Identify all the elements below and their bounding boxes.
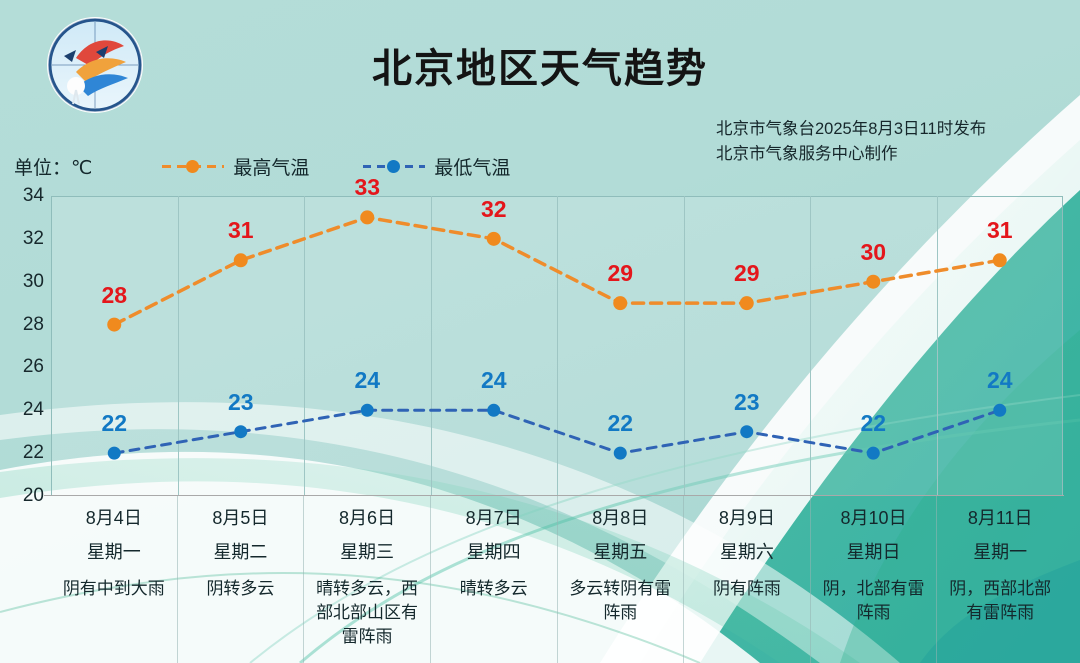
day-weekday: 星期一 xyxy=(87,539,141,565)
data-point-marker xyxy=(108,447,121,460)
data-point-marker xyxy=(234,253,248,267)
day-weather-description: 晴转多云 xyxy=(435,577,553,601)
day-weekday: 星期二 xyxy=(213,539,267,565)
day-weekday: 星期一 xyxy=(973,539,1027,565)
low-temp-value: 22 xyxy=(860,410,886,437)
y-axis-tick: 34 xyxy=(6,185,44,207)
data-point-marker xyxy=(614,447,627,460)
low-temp-value: 23 xyxy=(228,389,254,416)
day-date: 8月4日 xyxy=(86,505,142,531)
day-date: 8月6日 xyxy=(339,505,395,531)
data-point-marker xyxy=(993,253,1007,267)
legend-key-low-icon xyxy=(363,158,425,174)
legend-label-low: 最低气温 xyxy=(434,153,510,180)
data-point-marker xyxy=(740,425,753,438)
day-weekday: 星期六 xyxy=(720,539,774,565)
day-column: 8月7日星期四晴转多云 xyxy=(431,496,558,663)
legend-item-high: 最高气温 xyxy=(162,153,309,180)
data-point-marker xyxy=(487,232,501,246)
high-temp-value: 29 xyxy=(734,260,760,287)
day-date: 8月8日 xyxy=(592,505,648,531)
legend: 单位：℃ 最高气温 最低气温 xyxy=(14,152,564,180)
issue-line-2: 北京市气象服务中心制作 xyxy=(716,142,986,167)
y-axis-tick: 28 xyxy=(6,314,44,336)
day-weather-description: 晴转多云，西部北部山区有雷阵雨 xyxy=(308,577,426,649)
chart-plot-area: 28313332292930312223242422232224 xyxy=(51,196,1063,496)
high-temp-value: 29 xyxy=(607,260,633,287)
y-axis-tick: 22 xyxy=(6,442,44,464)
data-point-marker xyxy=(993,404,1006,417)
data-point-marker xyxy=(107,318,121,332)
day-column: 8月5日星期二阴转多云 xyxy=(178,496,305,663)
high-temp-value: 30 xyxy=(860,239,886,266)
unit-label: 单位：℃ xyxy=(14,153,92,180)
issue-line-1: 北京市气象台2025年8月3日11时发布 xyxy=(716,117,986,142)
day-weather-description: 阴，北部有雷阵雨 xyxy=(815,577,933,625)
low-temp-value: 24 xyxy=(481,367,507,394)
day-weather-description: 多云转阴有雷阵雨 xyxy=(561,577,679,625)
day-column: 8月9日星期六阴有阵雨 xyxy=(684,496,811,663)
high-temp-value: 32 xyxy=(481,196,507,223)
day-column: 8月11日星期一阴，西部北部有雷阵雨 xyxy=(937,496,1063,663)
high-temp-value: 31 xyxy=(987,217,1013,244)
day-weather-description: 阴转多云 xyxy=(181,577,299,601)
day-weekday: 星期五 xyxy=(593,539,647,565)
day-weekday: 星期四 xyxy=(467,539,521,565)
data-point-marker xyxy=(360,210,374,224)
data-point-marker xyxy=(234,425,247,438)
y-axis-tick: 20 xyxy=(6,485,44,507)
low-temp-value: 22 xyxy=(101,410,127,437)
day-column: 8月8日星期五多云转阴有雷阵雨 xyxy=(558,496,685,663)
day-date: 8月5日 xyxy=(212,505,268,531)
data-point-marker xyxy=(487,404,500,417)
day-date: 8月9日 xyxy=(719,505,775,531)
day-date: 8月11日 xyxy=(968,505,1033,531)
legend-item-low: 最低气温 xyxy=(363,153,510,180)
day-date: 8月7日 xyxy=(466,505,522,531)
data-point-marker xyxy=(740,296,754,310)
low-temp-value: 23 xyxy=(734,389,760,416)
low-temp-value: 24 xyxy=(987,367,1013,394)
day-weekday: 星期日 xyxy=(847,539,901,565)
day-weather-description: 阴，西部北部有雷阵雨 xyxy=(941,577,1059,625)
high-temp-value: 28 xyxy=(101,282,127,309)
y-axis-tick: 26 xyxy=(6,356,44,378)
data-point-marker xyxy=(361,404,374,417)
day-column: 8月4日星期一阴有中到大雨 xyxy=(51,496,178,663)
y-axis-tick: 30 xyxy=(6,271,44,293)
day-column: 8月6日星期三晴转多云，西部北部山区有雷阵雨 xyxy=(304,496,431,663)
weather-trend-infographic: 北京地区天气趋势 北京市气象台2025年8月3日11时发布 北京市气象服务中心制… xyxy=(0,0,1080,663)
low-temp-value: 24 xyxy=(354,367,380,394)
day-weather-description: 阴有阵雨 xyxy=(688,577,806,601)
low-temp-value: 22 xyxy=(607,410,633,437)
y-axis-tick: 24 xyxy=(6,399,44,421)
y-axis-tick: 32 xyxy=(6,228,44,250)
day-columns: 8月4日星期一阴有中到大雨8月5日星期二阴转多云8月6日星期三晴转多云，西部北部… xyxy=(51,496,1063,663)
data-point-marker xyxy=(867,447,880,460)
legend-key-high-icon xyxy=(162,158,224,174)
legend-label-high: 最高气温 xyxy=(233,153,309,180)
data-point-marker xyxy=(613,296,627,310)
high-temp-value: 33 xyxy=(354,174,380,201)
high-temp-value: 31 xyxy=(228,217,254,244)
issue-info: 北京市气象台2025年8月3日11时发布 北京市气象服务中心制作 xyxy=(716,117,986,167)
page-title: 北京地区天气趋势 xyxy=(0,36,1080,94)
series-layer xyxy=(51,196,1063,496)
day-column: 8月10日星期日阴，北部有雷阵雨 xyxy=(811,496,938,663)
day-weather-description: 阴有中到大雨 xyxy=(55,577,173,601)
data-point-marker xyxy=(866,275,880,289)
day-date: 8月10日 xyxy=(841,505,907,531)
day-weekday: 星期三 xyxy=(340,539,394,565)
